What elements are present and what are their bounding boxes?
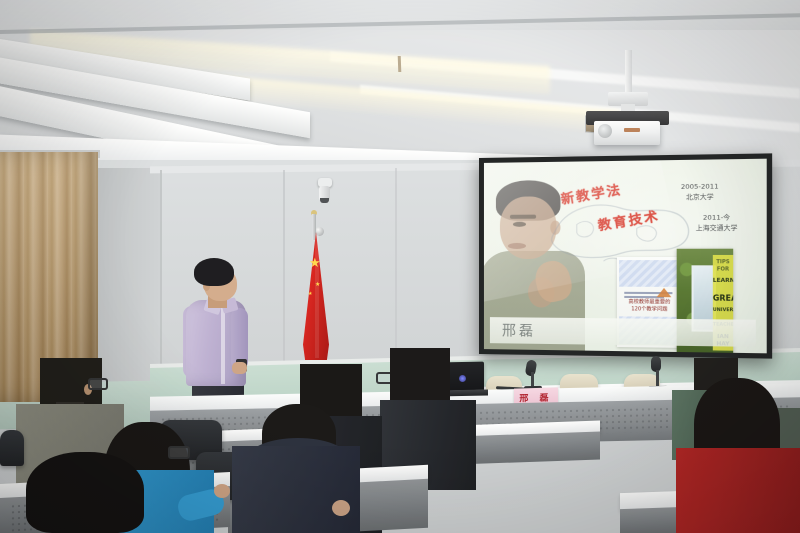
book-en-line-6: UNIVERSITY [713,307,733,314]
projector-logo [624,128,640,132]
flag-star-large: ★ [309,256,321,269]
wall-seam [395,168,397,358]
audience-member-hoodie [232,446,360,533]
presenter-shirt-placket [221,304,225,384]
presenter-hand [232,362,247,374]
laptop-screen-glow [459,375,466,382]
presenter-hair [194,258,234,286]
eyeglasses-icon [88,378,108,390]
slide-affiliation-2: 2011-今 上海交通大学 [696,212,738,233]
classroom-photo-scene: 新教学法 教育技术 2005-2011 北京大学 2011-今 上海交通大学 高… [0,0,800,533]
eyeglasses-icon [168,446,190,459]
wall-seam [283,170,285,370]
book-en-line-2: LEARNING [713,278,733,285]
affiliation-1-school: 北京大学 [681,192,719,203]
projected-slide: 新教学法 教育技术 2005-2011 北京大学 2011-今 上海交通大学 高… [484,159,767,354]
flag-fold-highlight [315,234,319,358]
sprinkler-icon [398,56,402,72]
wall-seam [160,170,162,385]
projector-icon[interactable] [594,121,660,145]
security-camera-lens [320,198,329,203]
audience-member-foreground-left [26,452,144,533]
audience-hand [214,484,230,498]
projection-screen[interactable]: 新教学法 教育技术 2005-2011 北京大学 2011-今 上海交通大学 高… [479,153,772,358]
ceiling [0,0,800,172]
book-title-line2: 120个教学问题 [623,306,675,314]
slide-affiliation-1: 2005-2011 北京大学 [681,181,719,202]
audience-member-red-jacket [676,448,800,533]
book-en-line-1: TIPS FOR [713,259,733,274]
projector-lens [598,124,612,138]
affiliation-2-years: 2011-今 [696,212,738,223]
projector-mount-pole [625,50,632,98]
flag-star-small: ★ [315,282,320,288]
affiliation-1-years: 2005-2011 [681,181,719,192]
classroom-chair[interactable] [0,430,24,466]
flag-star-small: ★ [308,292,312,297]
slide-presenter-name: 邢磊 [502,320,536,341]
book-chinese-title: 高校教师最重要的 120个教学问题 [623,299,675,314]
book-en-line-5: GREAT [713,294,733,301]
affiliation-2-school: 上海交通大学 [696,223,738,234]
audience-head [390,348,450,408]
audience-hand [332,500,350,516]
book-triangle-graphic [657,288,672,297]
